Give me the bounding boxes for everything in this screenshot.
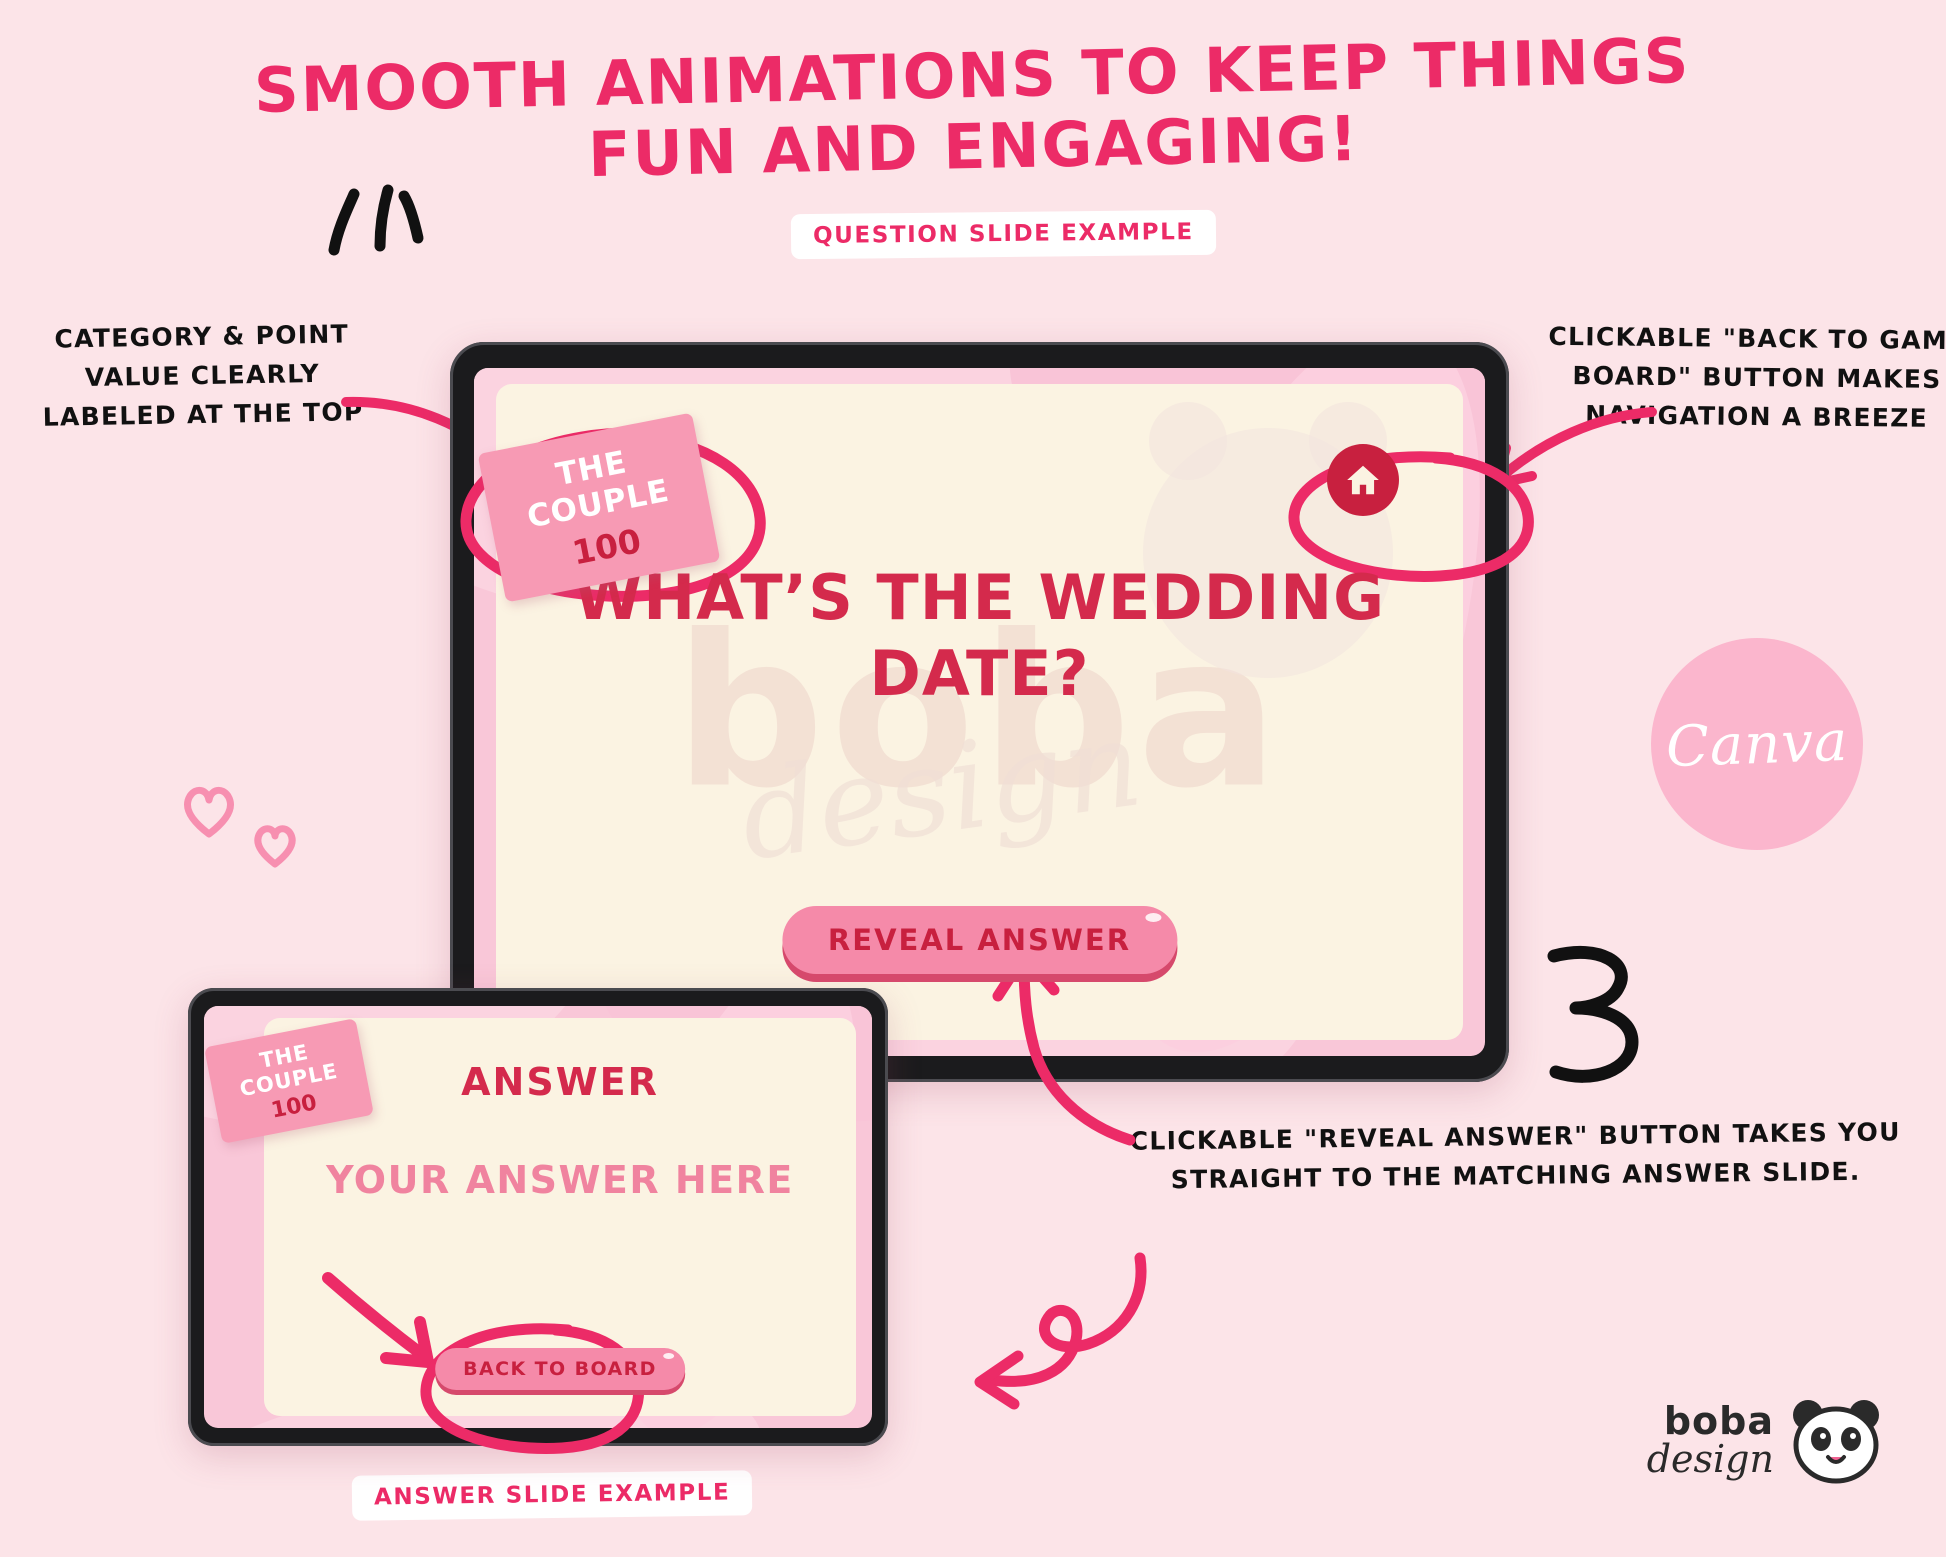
poster-canvas: SMOOTH ANIMATIONS TO KEEP THINGS FUN AND… xyxy=(0,0,1946,1557)
brand-name: boba design xyxy=(1647,1402,1774,1478)
annotation-left-line-3: LABELED AT THE TOP xyxy=(42,393,363,437)
button-gloss xyxy=(1145,913,1161,922)
canva-badge: Canva xyxy=(1651,638,1863,850)
reveal-answer-label: REVEAL ANSWER xyxy=(828,923,1131,957)
annotation-right-line-3: NAVIGATION A BREEZE xyxy=(1547,395,1946,438)
label-answer-slide-example: ANSWER SLIDE EXAMPLE xyxy=(352,1470,753,1521)
tablet-answer-slide: ANSWER YOUR ANSWER HERE BACK TO BOARD TH… xyxy=(188,988,888,1446)
brand-logo: boba design xyxy=(1647,1395,1884,1485)
question-card: boba design THE COUPLE 100 WHAT’S THE WE… xyxy=(496,384,1463,1040)
question-text: WHAT’S THE WEDDING DATE? xyxy=(496,560,1463,711)
button-gloss xyxy=(663,1353,674,1359)
heart-doodle-large xyxy=(178,782,240,844)
heart-doodle-small xyxy=(250,822,300,874)
label-question-slide-example: QUESTION SLIDE EXAMPLE xyxy=(791,210,1216,259)
home-icon[interactable] xyxy=(1327,444,1399,516)
annotation-category-point: CATEGORY & POINT VALUE CLEARLY LABELED A… xyxy=(41,315,364,437)
back-to-board-button[interactable]: BACK TO BOARD xyxy=(435,1348,685,1390)
squiggle-doodle xyxy=(1540,938,1660,1098)
annotation-reveal-answer: CLICKABLE "REVEAL ANSWER" BUTTON TAKES Y… xyxy=(1130,1113,1902,1200)
question-line-2: DATE? xyxy=(496,636,1463,712)
annotation-back-to-game-board: CLICKABLE "BACK TO GAME BOARD" BUTTON MA… xyxy=(1547,318,1946,439)
canva-label: Canva xyxy=(1665,708,1849,779)
watermark-design: design xyxy=(732,694,1149,888)
back-to-board-label: BACK TO BOARD xyxy=(463,1358,657,1380)
brand-name-line-1: boba xyxy=(1647,1402,1774,1440)
arrow-down-to-answer-slide xyxy=(940,1240,1160,1400)
question-screen: boba design THE COUPLE 100 WHAT’S THE WE… xyxy=(474,368,1485,1056)
annotation-left-line-2: VALUE CLEARLY xyxy=(42,354,363,398)
reveal-answer-button[interactable]: REVEAL ANSWER xyxy=(782,906,1177,974)
annotation-right-line-1: CLICKABLE "BACK TO GAME xyxy=(1548,318,1946,361)
answer-screen: ANSWER YOUR ANSWER HERE BACK TO BOARD TH… xyxy=(204,1006,872,1428)
brand-name-line-2: design xyxy=(1647,1440,1774,1478)
tablet-question-slide: boba design THE COUPLE 100 WHAT’S THE WE… xyxy=(450,342,1509,1082)
annotation-left-line-1: CATEGORY & POINT xyxy=(41,315,362,359)
page-title: SMOOTH ANIMATIONS TO KEEP THINGS FUN AND… xyxy=(0,20,1946,203)
answer-body-placeholder: YOUR ANSWER HERE xyxy=(264,1158,856,1202)
annotation-right-line-2: BOARD" BUTTON MAKES xyxy=(1548,357,1946,400)
panda-icon xyxy=(1788,1395,1884,1485)
